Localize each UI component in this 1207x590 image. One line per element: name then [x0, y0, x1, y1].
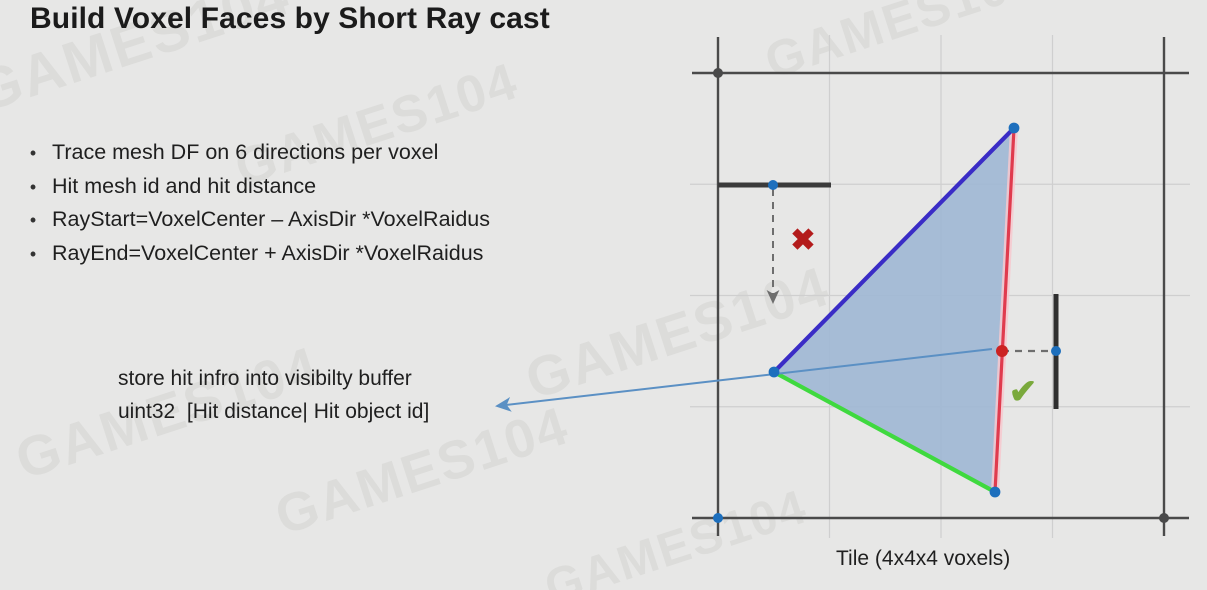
bullet-dot-icon: •: [14, 171, 52, 203]
annotation-line-1: store hit infro into visibilty buffer: [118, 362, 429, 395]
hit-ray-end-dot: [1051, 346, 1061, 356]
visibility-buffer-annotation: store hit infro into visibilty buffer ui…: [118, 362, 429, 428]
bullet-item: •Hit mesh id and hit distance: [14, 170, 490, 203]
annotation-line-2: uint32 [Hit distance| Hit object id]: [118, 395, 429, 428]
tile-corner-dot-bottom-right: [1159, 513, 1169, 523]
triangle-vertex-dot: [1009, 123, 1020, 134]
tile-corner-dot-top-left: [713, 68, 723, 78]
bullet-list: •Trace mesh DF on 6 directions per voxel…: [14, 136, 490, 270]
bullet-item: •RayEnd=VoxelCenter + AxisDir *VoxelRaid…: [14, 237, 490, 270]
page-title: Build Voxel Faces by Short Ray cast: [30, 2, 550, 36]
bullet-text: RayEnd=VoxelCenter + AxisDir *VoxelRaidu…: [52, 237, 483, 269]
miss-ray-start-dot: [768, 180, 778, 190]
bullet-text: RayStart=VoxelCenter – AxisDir *VoxelRai…: [52, 203, 490, 235]
bullet-dot-icon: •: [14, 137, 52, 169]
hit-marker-check-icon: ✔: [1009, 373, 1038, 411]
hit-point-dot: [996, 345, 1008, 357]
triangle-vertex-dot: [990, 487, 1001, 498]
bullet-dot-icon: •: [14, 204, 52, 236]
bullet-item: •RayStart=VoxelCenter – AxisDir *VoxelRa…: [14, 203, 490, 236]
triangle-vertex-dot: [769, 367, 780, 378]
bullet-text: Trace mesh DF on 6 directions per voxel: [52, 136, 438, 168]
voxel-tile-diagram: ✖✔: [0, 0, 1207, 590]
bullet-text: Hit mesh id and hit distance: [52, 170, 316, 202]
bullet-item: •Trace mesh DF on 6 directions per voxel: [14, 136, 490, 169]
bullet-dot-icon: •: [14, 238, 52, 270]
tile-corner-dot-bottom-left: [713, 513, 723, 523]
miss-marker-x-icon: ✖: [790, 224, 815, 257]
diagram-caption: Tile (4x4x4 voxels): [836, 547, 1010, 571]
